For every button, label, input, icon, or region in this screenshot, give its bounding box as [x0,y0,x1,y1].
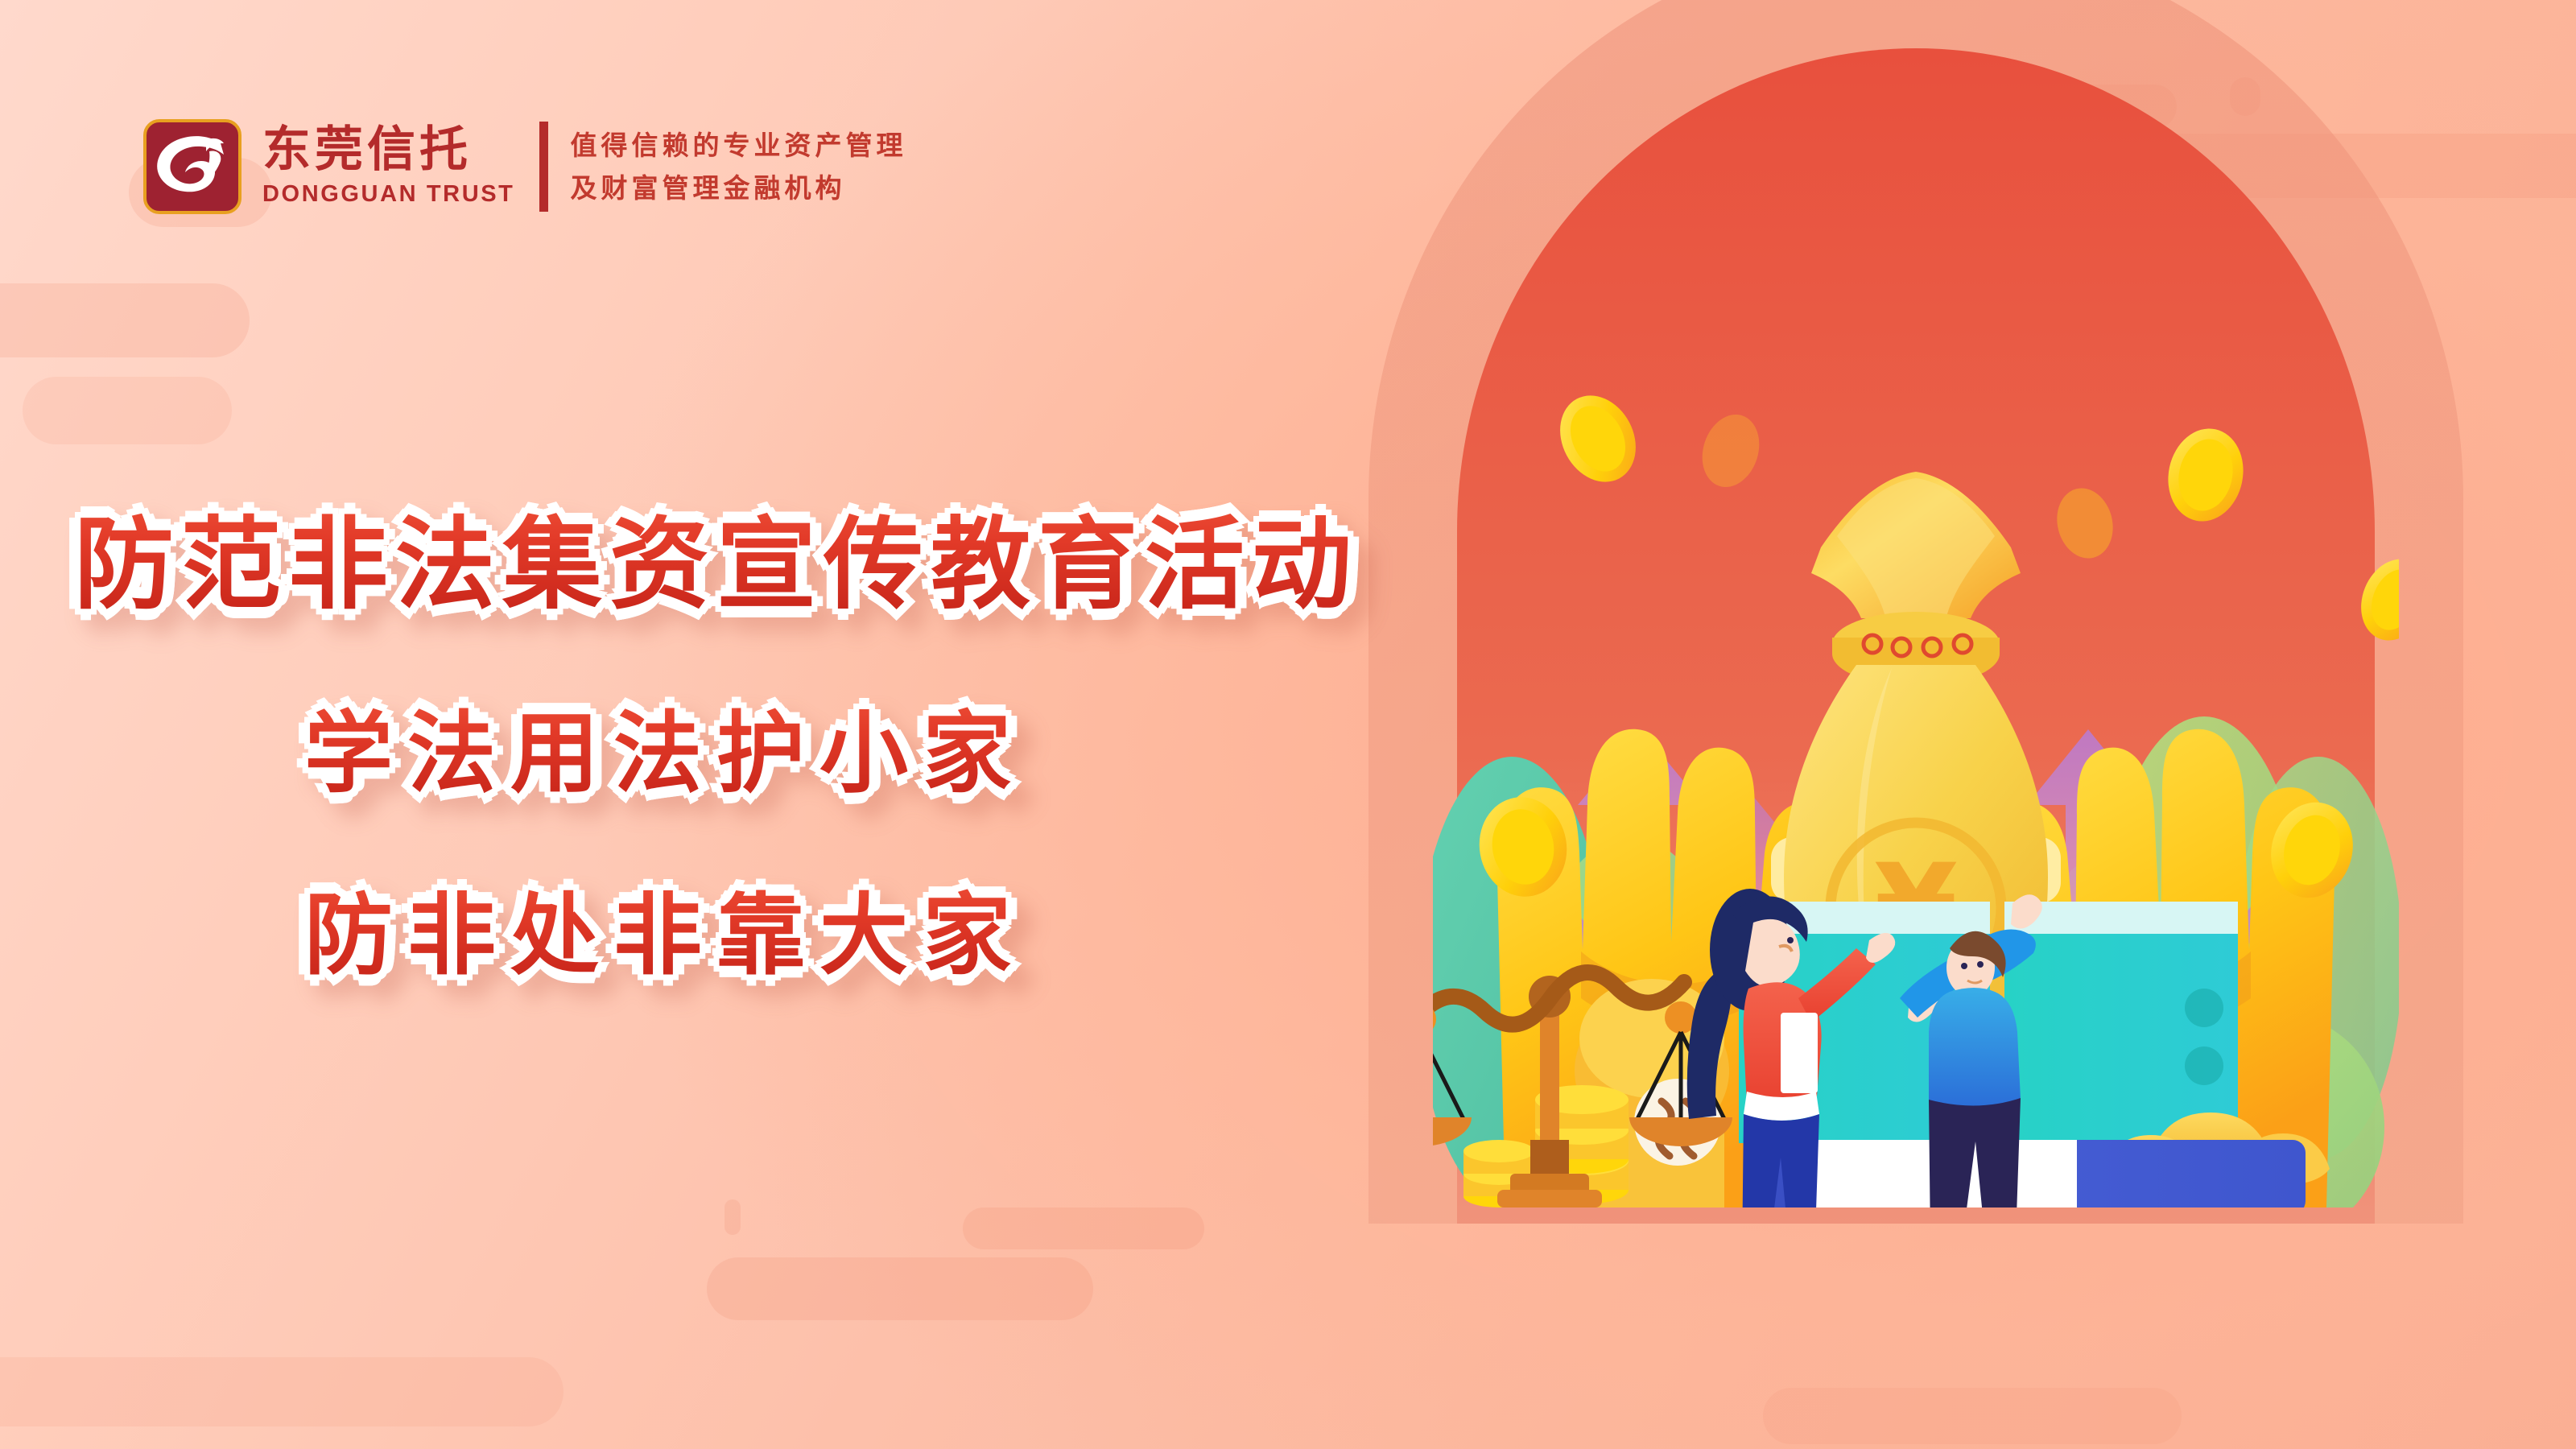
poster-canvas: ¥ [0,0,2576,1449]
brand-tagline: 值得信赖的专业资产管理 及财富管理金融机构 [571,124,907,210]
decor-pill [0,283,250,357]
hero-illustration: ¥ [1256,0,2576,1449]
decor-pill [707,1257,1093,1320]
decor-pill [0,1357,563,1426]
brand-divider [539,122,548,212]
brand-name-cn: 东莞信托 [262,126,515,174]
brand-wordmark: 东莞信托 DONGGUAN TRUST [262,126,515,208]
brand-logo-block: 东莞信托 DONGGUAN TRUST 值得信赖的专业资产管理 及财富管理金融机… [143,119,907,214]
headline-line-1: 防范非法集资宣传教育活动 [74,483,1385,628]
tagline-line-2: 及财富管理金融机构 [571,167,907,209]
headline-line-3: 防非处非靠大家 [304,863,1385,992]
tagline-line-1: 值得信赖的专业资产管理 [571,124,907,167]
decor-pill [23,377,232,444]
headline-block: 防范非法集资宣传教育活动 学法用法护小家 防非处非靠大家 [0,483,1385,992]
decor-pill [724,1199,741,1235]
headline-line-2: 学法用法护小家 [304,681,1385,810]
dongguan-trust-swirl-logo-icon [143,119,242,214]
decor-pill [963,1207,1204,1249]
brand-name-en: DONGGUAN TRUST [262,181,515,208]
